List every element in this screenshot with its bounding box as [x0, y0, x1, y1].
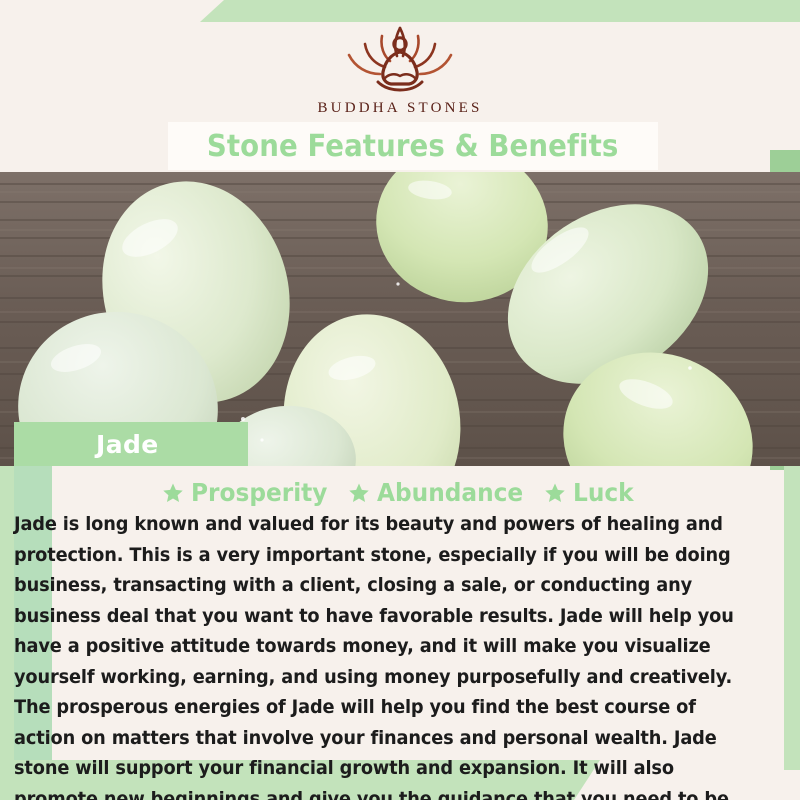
benefit-item: Luck — [544, 478, 638, 507]
description-text: Jade is long known and valued for its be… — [14, 510, 751, 800]
benefit-item: Abundance — [348, 478, 534, 507]
star-icon — [544, 482, 566, 504]
benefit-label: Prosperity — [191, 478, 327, 507]
benefit-item: Prosperity — [162, 478, 338, 507]
lotus-meditation-icon — [325, 22, 475, 94]
decorative-band-top — [200, 0, 800, 22]
brand-name: BUDDHA STONES — [317, 100, 482, 117]
benefits-row: Prosperity Abundance Luck — [0, 478, 800, 507]
stone-name-banner: Jade — [14, 422, 248, 466]
benefit-label: Luck — [573, 478, 634, 507]
decorative-bar-left-edge — [0, 424, 14, 760]
benefit-label: Abundance — [377, 478, 523, 507]
brand-logo: BUDDHA STONES — [0, 22, 800, 117]
star-icon — [162, 482, 184, 504]
title-banner: Stone Features & Benefits — [168, 122, 658, 170]
star-icon — [348, 482, 370, 504]
infographic-card: BUDDHA STONES Stone Features & Benefits — [0, 0, 800, 800]
stone-name: Jade — [96, 430, 159, 459]
page-title: Stone Features & Benefits — [207, 129, 618, 164]
